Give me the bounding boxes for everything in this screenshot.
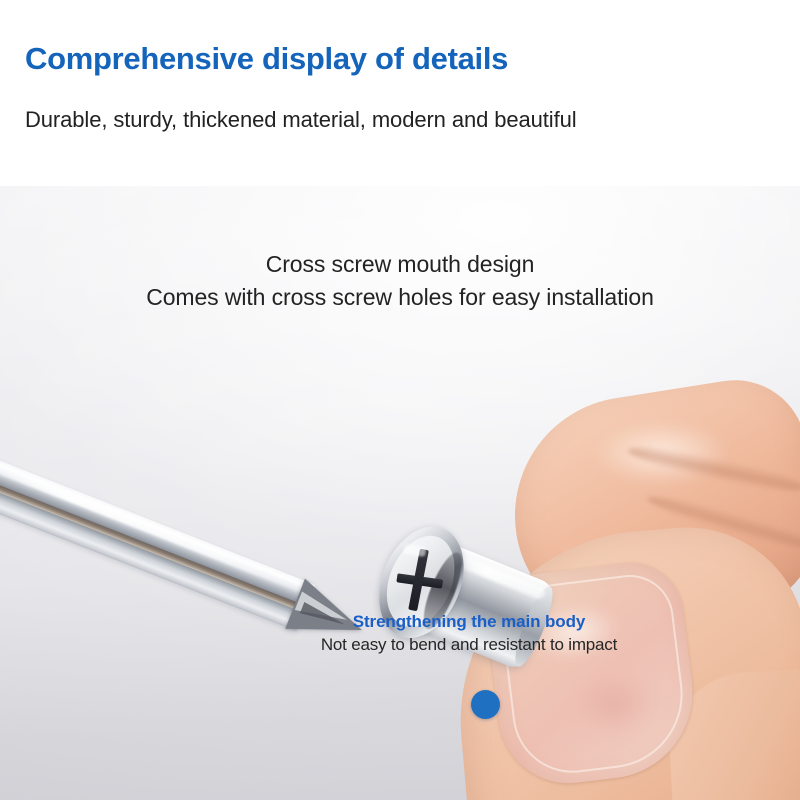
product-detail-banner: Comprehensive display of details Durable… bbox=[0, 0, 800, 800]
blue-dot-marker-upper bbox=[471, 690, 500, 719]
callout-description: Not easy to bend and resistant to impact bbox=[294, 635, 644, 655]
photo-caption: Cross screw mouth design Comes with cros… bbox=[0, 248, 800, 313]
header-section: Comprehensive display of details Durable… bbox=[0, 0, 800, 186]
callout-title: Strengthening the main body bbox=[294, 612, 644, 632]
page-subtitle: Durable, sturdy, thickened material, mod… bbox=[25, 107, 577, 133]
page-title: Comprehensive display of details bbox=[25, 41, 508, 77]
product-photo: Cross screw mouth design Comes with cros… bbox=[0, 186, 800, 800]
callout-strengthening-main-body: Strengthening the main body Not easy to … bbox=[294, 612, 644, 655]
photo-caption-line-2: Comes with cross screw holes for easy in… bbox=[0, 281, 800, 314]
photo-caption-line-1: Cross screw mouth design bbox=[0, 248, 800, 281]
